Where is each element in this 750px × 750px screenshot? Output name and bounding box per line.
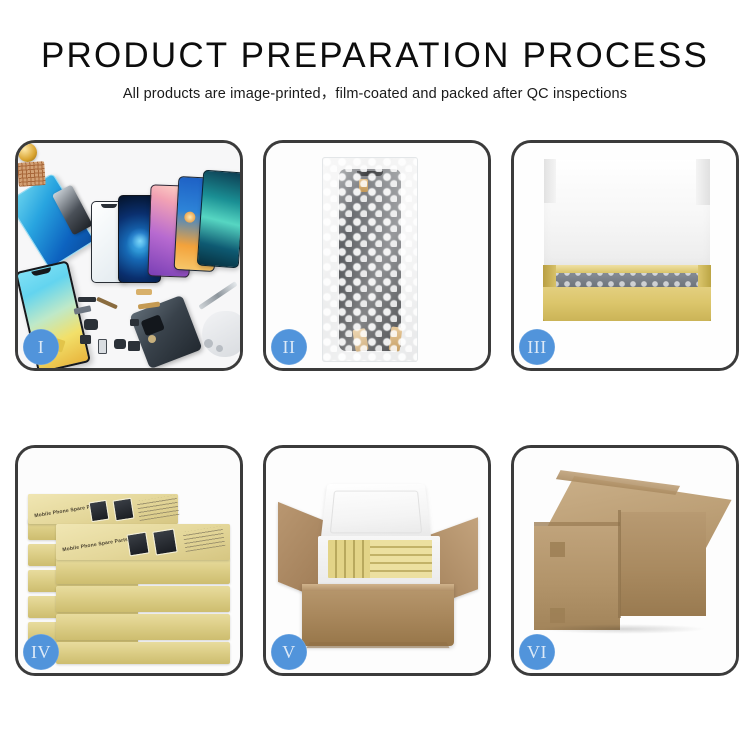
spare-part-chip: [84, 319, 98, 330]
spare-part-chip: [114, 339, 126, 349]
process-step-5[interactable]: V: [263, 445, 491, 676]
box-window-left: [89, 500, 110, 523]
adhesive-screen-blue: [18, 173, 95, 269]
step-badge-2: II: [271, 329, 307, 365]
process-step-2[interactable]: II: [263, 140, 491, 371]
process-step-4[interactable]: Mobile Phone Spare Parts Mobile Phone Sp…: [15, 445, 243, 676]
box-window-right: [152, 528, 177, 555]
step-badge-4: IV: [23, 634, 59, 670]
stacked-box: [56, 558, 230, 584]
tweezer-tool-icon: [198, 281, 237, 310]
spare-part-chip: [78, 297, 96, 302]
stacked-box: [56, 614, 230, 640]
kraft-inner-box: [543, 265, 711, 321]
carton-vertical-edge: [618, 510, 621, 618]
foam-lid: [320, 484, 431, 542]
page-header: PRODUCT PREPARATION PROCESS All products…: [0, 0, 750, 102]
spare-part-screw: [216, 345, 223, 352]
step-badge-1: I: [23, 329, 59, 365]
spare-part-chip: [80, 335, 91, 344]
carton-tab-lower: [550, 608, 565, 623]
spare-part-screw: [204, 339, 213, 348]
gold-component: [18, 143, 37, 162]
box-rim: [543, 265, 711, 273]
spare-part-chip: [130, 319, 139, 326]
carton-right-face: [620, 512, 706, 616]
page-title: PRODUCT PREPARATION PROCESS: [0, 38, 750, 73]
carton-front-panel: [302, 584, 454, 646]
spare-part-bracket: [96, 297, 118, 310]
stacked-box: [56, 586, 230, 612]
stacked-box-printed-second: Mobile Phone Spare Parts: [56, 524, 230, 560]
process-step-6[interactable]: VI: [511, 445, 739, 676]
spare-part-flex-cable: [136, 289, 152, 295]
carton-left-face: [534, 526, 620, 630]
kraft-box-stack: Mobile Phone Spare Parts Mobile Phone Sp…: [28, 466, 234, 664]
process-step-1[interactable]: I: [15, 140, 243, 371]
box-front-panel: [543, 287, 711, 321]
spare-part-screw: [148, 335, 156, 343]
step-badge-5: V: [271, 634, 307, 670]
bubble-wrap-bag: [322, 157, 418, 362]
process-steps-grid: I II III: [15, 140, 739, 676]
box-window-left: [126, 532, 149, 557]
carton-tab-upper: [550, 542, 565, 557]
page-subtitle: All products are image-printed，film-coat…: [0, 87, 750, 102]
process-step-3[interactable]: III: [511, 140, 739, 371]
spare-part-chip: [128, 341, 140, 351]
box-window-right: [112, 498, 134, 522]
stacked-box-printed-top: Mobile Phone Spare Parts: [28, 494, 178, 524]
plastic-sheen: [322, 157, 418, 362]
step-badge-3: III: [519, 329, 555, 365]
spare-part-chip: [98, 339, 107, 354]
copper-mesh-pad: [18, 161, 46, 187]
kraft-boxes-inside-row2: [370, 540, 432, 578]
stacked-box: [56, 642, 230, 664]
white-foam-lid: [544, 159, 710, 271]
carton-shadow: [540, 624, 706, 634]
phone-screen-teal: [197, 170, 240, 269]
step-badge-6: VI: [519, 634, 555, 670]
